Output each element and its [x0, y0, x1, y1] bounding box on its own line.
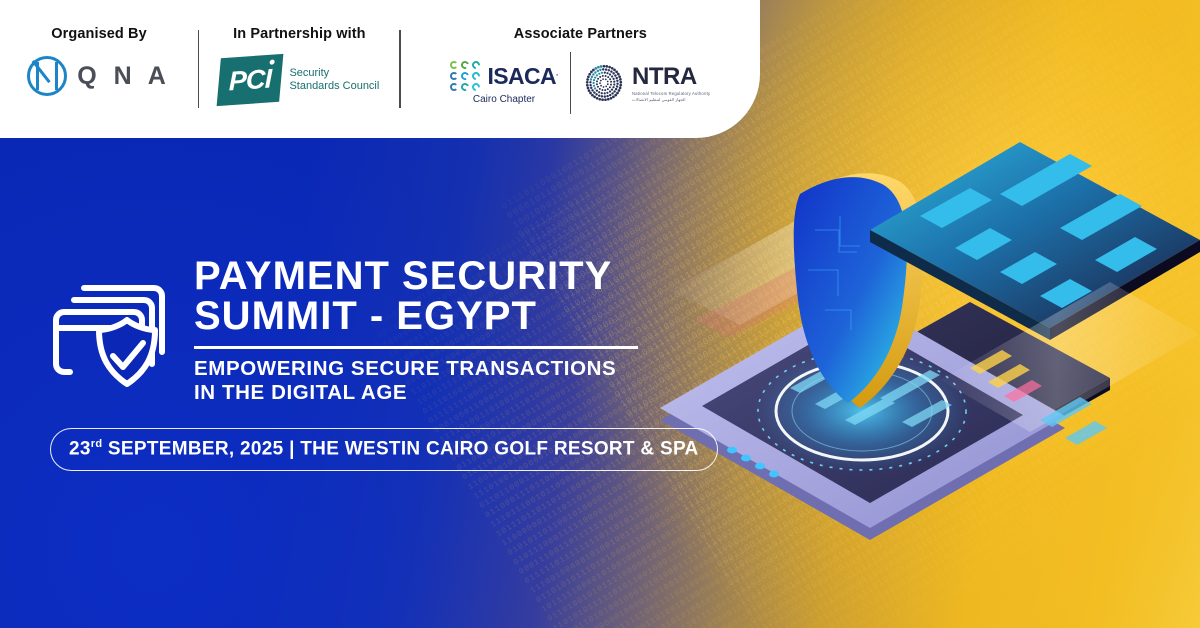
- isometric-phone-shield-credit-cards: [640, 120, 1200, 540]
- isaca-arc-grid-icon: [450, 61, 480, 91]
- date-ordinal: rd: [91, 438, 103, 450]
- title-line-1: PAYMENT SECURITY: [194, 256, 638, 296]
- isaca-arc-8: [471, 81, 482, 92]
- payment-card-shield-check-icon: [50, 258, 178, 388]
- qna-monogram-icon: [27, 56, 67, 96]
- qna-logo[interactable]: Q N A: [27, 56, 171, 96]
- isaca-wordmark: ISACA.: [487, 63, 557, 90]
- isaca-arc-7: [460, 82, 471, 93]
- qna-wordmark: Q N A: [77, 62, 171, 91]
- pci-tagline-line2: Standards Council: [289, 80, 379, 93]
- pci-wordmark: PCI: [229, 63, 271, 97]
- date-venue-rest: SEPTEMBER, 2025 | THE WESTIN CAIRO GOLF …: [102, 438, 698, 459]
- pci-dot-icon: [270, 59, 275, 64]
- page-subtitle: EMPOWERING SECURE TRANSACTIONS IN THE DI…: [194, 357, 638, 405]
- hero-content: PAYMENT SECURITY SUMMIT - EGYPT EMPOWERI…: [50, 252, 638, 405]
- isaca-chapter-label: Cairo Chapter: [473, 94, 535, 105]
- partners-header-panel: Organised By Q N A In Partnership with P…: [0, 0, 760, 138]
- partner-group-title: In Partnership with: [233, 26, 365, 42]
- ntra-subtitle-ar: الجهاز القومي لتنظيم الاتصالات: [632, 97, 710, 103]
- isaca-arc-6: [450, 83, 458, 91]
- header-divider: [198, 30, 199, 108]
- partner-group-title: Organised By: [51, 26, 146, 42]
- date-venue-badge: 23rd SEPTEMBER, 2025 | THE WESTIN CAIRO …: [50, 428, 718, 471]
- isaca-arc-3: [450, 72, 458, 80]
- pci-logo[interactable]: PCI Security Standards Council: [219, 56, 379, 104]
- pci-badge-icon: PCI: [217, 54, 284, 106]
- date-day: 23: [69, 438, 91, 459]
- pci-tagline: Security Standards Council: [289, 67, 379, 93]
- page-title: PAYMENT SECURITY SUMMIT - EGYPT: [194, 256, 638, 336]
- ntra-logo[interactable]: NTRA National Telecom Regulatory Authori…: [583, 62, 710, 104]
- isaca-arc-1: [460, 60, 471, 71]
- date-venue-text: 23rd SEPTEMBER, 2025 | THE WESTIN CAIRO …: [69, 438, 699, 460]
- pci-tagline-line1: Security: [289, 67, 379, 80]
- title-divider: [194, 346, 638, 349]
- title-line-2: SUMMIT - EGYPT: [194, 296, 638, 336]
- subtitle-line-2: IN THE DIGITAL AGE: [194, 381, 638, 405]
- isaca-arc-5: [471, 70, 482, 81]
- partner-group-in-partnership: In Partnership with PCI Security Standar…: [199, 0, 399, 138]
- ntra-wordmark: NTRA: [632, 63, 710, 91]
- partner-group-organised-by: Organised By Q N A: [0, 0, 198, 138]
- isaca-arc-2: [471, 59, 482, 70]
- event-banner: 0111011000100110100100100111111010010111…: [0, 0, 1200, 628]
- isaca-arc-4: [460, 71, 471, 82]
- isaca-logo[interactable]: ISACA. Cairo Chapter: [450, 61, 557, 105]
- ntra-dotted-spiral-icon: [583, 62, 625, 104]
- header-divider: [570, 52, 571, 114]
- partner-group-associate-partners: Associate Partners ISACA. Cairo Chapter: [401, 0, 760, 138]
- subtitle-line-1: EMPOWERING SECURE TRANSACTIONS: [194, 357, 638, 381]
- header-divider: [399, 30, 400, 108]
- isaca-arc-0: [450, 61, 458, 69]
- title-block: PAYMENT SECURITY SUMMIT - EGYPT EMPOWERI…: [194, 252, 638, 405]
- partner-group-title: Associate Partners: [514, 26, 647, 42]
